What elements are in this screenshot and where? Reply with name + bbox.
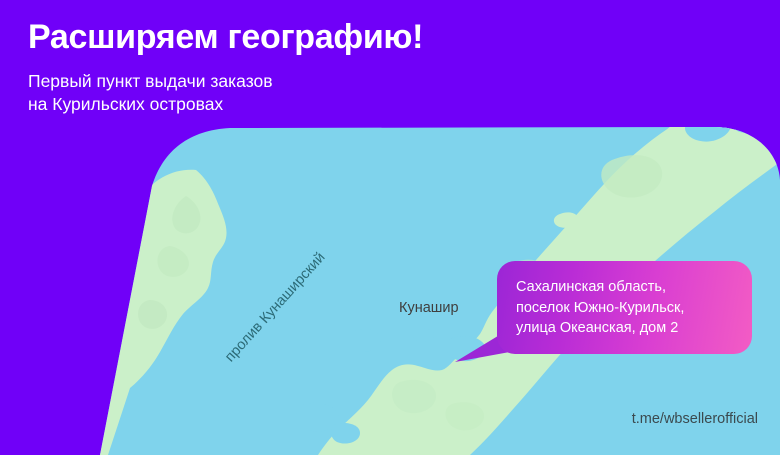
callout-line-2: поселок Южно-Курильск, (516, 298, 736, 319)
bay-northeast (731, 110, 769, 133)
banner-canvas: Сахалинская область, поселок Южно-Куриль… (0, 0, 780, 455)
address-callout[interactable]: Сахалинская область, поселок Южно-Куриль… (497, 261, 752, 354)
callout-line-1: Сахалинская область, (516, 277, 736, 298)
relief-kunashir-4 (392, 380, 436, 413)
map-graphic (0, 0, 780, 455)
lake-south-3 (331, 423, 360, 444)
telegram-handle[interactable]: t.me/wbsellerofficial (632, 411, 758, 427)
islet-2 (696, 36, 723, 51)
callout-line-3: улица Океанская, дом 2 (516, 318, 736, 339)
map-panel (0, 0, 780, 455)
map-clip-group (0, 20, 780, 455)
relief-kunashir-2 (681, 56, 736, 94)
